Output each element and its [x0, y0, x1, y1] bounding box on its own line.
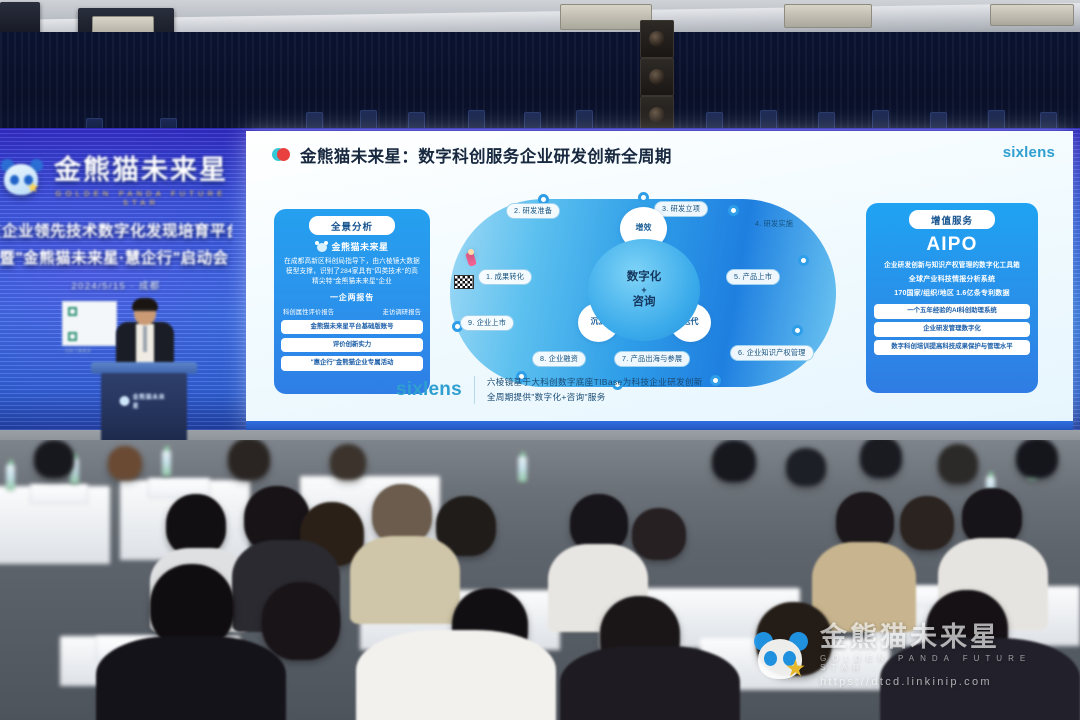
- audience-head: [860, 440, 902, 478]
- panda-logo-icon: [120, 396, 130, 406]
- speaker-person: [112, 300, 178, 370]
- lifecycle-node-8: 8. 企业融资: [532, 351, 586, 367]
- sixlens-logo-top: sixlens: [1003, 144, 1055, 161]
- right-card-desc-2: 全球产业科技情报分析系统: [874, 275, 1030, 286]
- left-card-logo-text: 金熊猫未来星: [331, 240, 388, 253]
- panda-logo-icon: [0, 158, 44, 198]
- lifecycle-node-1: 1. 成果转化: [478, 269, 532, 285]
- banner-title: 金熊猫未来星: [50, 148, 232, 187]
- core-line-2: 咨询: [633, 296, 656, 309]
- audience-torso: [356, 630, 556, 720]
- left-card-box-2: 评价创新实力: [281, 338, 423, 353]
- footer-line-2: 全周期提供"数字化+咨询"服务: [487, 392, 606, 402]
- left-card-box-1: 金熊猫未来星平台基础版账号: [281, 320, 423, 335]
- audience-head: [108, 446, 142, 480]
- report-label-left: 科创属性评价报告: [283, 307, 334, 316]
- left-card-logo-row: 金熊猫未来星: [281, 240, 423, 253]
- ring-node-dot: [798, 255, 809, 266]
- audience-head: [34, 440, 74, 478]
- name-placard: [30, 484, 88, 504]
- conference-photo: 金熊猫未来星 GOLDEN PANDA FUTURE STAR 技企业领先技术数…: [0, 0, 1080, 720]
- value-added-services-card: 增值服务 AIPO 企业研发创新与知识产权管理的数字化工具箱 全球产业科技情报分…: [866, 203, 1038, 393]
- footer-divider: [474, 376, 475, 404]
- core-plus: +: [641, 285, 646, 295]
- audience-head: [330, 444, 366, 480]
- left-card-report-row: 科创属性评价报告 走访调研报告: [281, 307, 423, 316]
- audience-head: [712, 440, 756, 482]
- water-bottle: [518, 456, 527, 482]
- right-card-box-3: 数字科创培训提高科技成果保护与管理水平: [874, 340, 1030, 355]
- qr-code-icon: [68, 332, 77, 341]
- side-screen-caption: 扫码了解更多: [65, 348, 91, 354]
- watermark-subtitle: GOLDEN PANDA FUTURE STAR: [820, 654, 1072, 672]
- ceiling-light-box: [784, 4, 872, 28]
- banner-logo-row: 金熊猫未来星 GOLDEN PANDA FUTURE STAR: [0, 148, 232, 207]
- audience-head: [262, 582, 340, 660]
- audience-torso: [96, 636, 286, 720]
- right-card-box-1: 一个五年经验的AI科创助理系统: [874, 304, 1030, 319]
- qr-code-icon: [68, 307, 77, 316]
- audience-head: [372, 484, 432, 544]
- slide-footer: sixlens 六棱镜基于大科创数字底座TIBase为科技企业研发创新 全周期提…: [396, 369, 996, 411]
- panda-logo-icon: [315, 241, 328, 253]
- banner-event-line-1: 技企业领先技术数字化发现培育平台发布: [0, 219, 232, 241]
- lifecycle-node-9: 9. 企业上市: [460, 315, 514, 331]
- audience-head: [166, 494, 226, 556]
- left-card-subheader: 一企两报告: [281, 292, 423, 303]
- lifecycle-core: 数字化 + 咨询: [588, 239, 700, 341]
- audience-head: [632, 508, 686, 560]
- podium-logo-text: 金熊猫未来星: [133, 392, 169, 410]
- water-bottle: [6, 464, 15, 490]
- checkered-flag-icon: [454, 275, 474, 289]
- line-array-speaker: [640, 58, 674, 96]
- watermark-text: 金熊猫未来星 GOLDEN PANDA FUTURE STAR https://…: [820, 624, 1072, 688]
- audience-head: [938, 444, 978, 484]
- watermark: 金熊猫未来星 GOLDEN PANDA FUTURE STAR https://…: [752, 618, 1072, 694]
- right-card-desc-3: 170国家/组织/地区 1.6亿条专利数据: [874, 289, 1030, 300]
- side-confidence-monitor: 扫码了解更多: [62, 301, 117, 346]
- audience-head: [900, 496, 954, 550]
- right-card-desc-1: 企业研发创新与知识产权管理的数字化工具箱: [874, 261, 1030, 271]
- footer-line-1: 六棱镜基于大科创数字底座TIBase为科技企业研发创新: [487, 377, 703, 387]
- banner-date: 2024/5/15 · 成都: [0, 278, 232, 292]
- watermark-title: 金熊猫未来星: [820, 624, 1072, 651]
- lifecycle-node-5: 5. 产品上市: [726, 269, 780, 285]
- audience-head: [228, 440, 270, 480]
- podium-logo: 金熊猫未来星: [120, 392, 169, 410]
- event-banner: 金熊猫未来星 GOLDEN PANDA FUTURE STAR 技企业领先技术数…: [0, 140, 232, 295]
- ceiling-projector: [0, 2, 40, 36]
- left-card-header: 全景分析: [309, 216, 395, 235]
- watermark-url: https://dtcd.linkinip.com: [820, 676, 1072, 688]
- presentation-slide: 金熊猫未来星：数字科创服务企业研发创新全周期 sixlens 全景分析 金熊猫未…: [246, 131, 1073, 429]
- right-card-box-2: 企业研发管理数字化: [874, 322, 1030, 337]
- banner-event-line-2: 暨"金熊猫未来星·慧企行"启动会: [0, 246, 232, 268]
- ring-node-dot: [728, 205, 739, 216]
- lifecycle-node-7: 7. 产品出海与参展: [614, 351, 690, 367]
- slide-title: 金熊猫未来星：数字科创服务企业研发创新全周期: [300, 143, 672, 167]
- ceiling-light-box: [560, 4, 652, 30]
- core-line-1: 数字化: [627, 271, 662, 284]
- sixlens-logo-footer: sixlens: [396, 379, 462, 401]
- audience-head: [786, 448, 826, 486]
- lifecycle-diagram: 1. 成果转化 2. 研发准备 3. 研发立项 4. 研发实施 5. 产品上市 …: [442, 193, 844, 393]
- banner-subtitle: GOLDEN PANDA FUTURE STAR: [50, 189, 232, 207]
- aipo-product-name: AIPO: [874, 234, 1030, 256]
- podium: 金熊猫未来星: [95, 362, 193, 448]
- water-bottle: [162, 450, 171, 476]
- ring-node-dot: [792, 325, 803, 336]
- left-card-paragraph: 在成都高新区科创局指导下，由六棱镜大数据模型支撑，识别了284家具有"四类技术"…: [281, 257, 423, 288]
- footer-text: 六棱镜基于大科创数字底座TIBase为科技企业研发创新 全周期提供"数字化+咨询…: [487, 375, 703, 404]
- audience-torso: [350, 536, 460, 624]
- runner-icon: [464, 249, 478, 269]
- bullet-dot-icon: [272, 148, 291, 162]
- ring-node-dot: [638, 192, 649, 203]
- right-card-header: 增值服务: [909, 210, 995, 229]
- audience-head: [1016, 440, 1058, 478]
- audience-torso: [560, 646, 740, 720]
- panda-logo-icon: [752, 629, 810, 683]
- lifecycle-node-4: 4. 研发实施: [748, 217, 800, 231]
- report-label-right: 走访调研报告: [383, 307, 421, 316]
- panorama-analysis-card: 全景分析 金熊猫未来星 在成都高新区科创局指导下，由六棱镜大数据模型支撑，识别了…: [274, 209, 430, 394]
- sixlens-wordmark: sixlens: [1003, 144, 1055, 161]
- lifecycle-node-6: 6. 企业知识产权管理: [730, 345, 814, 361]
- slide-title-row: 金熊猫未来星：数字科创服务企业研发创新全周期: [272, 143, 672, 167]
- ceiling-light-box: [990, 4, 1074, 26]
- line-array-speaker: [640, 20, 674, 58]
- lifecycle-node-2: 2. 研发准备: [506, 203, 560, 219]
